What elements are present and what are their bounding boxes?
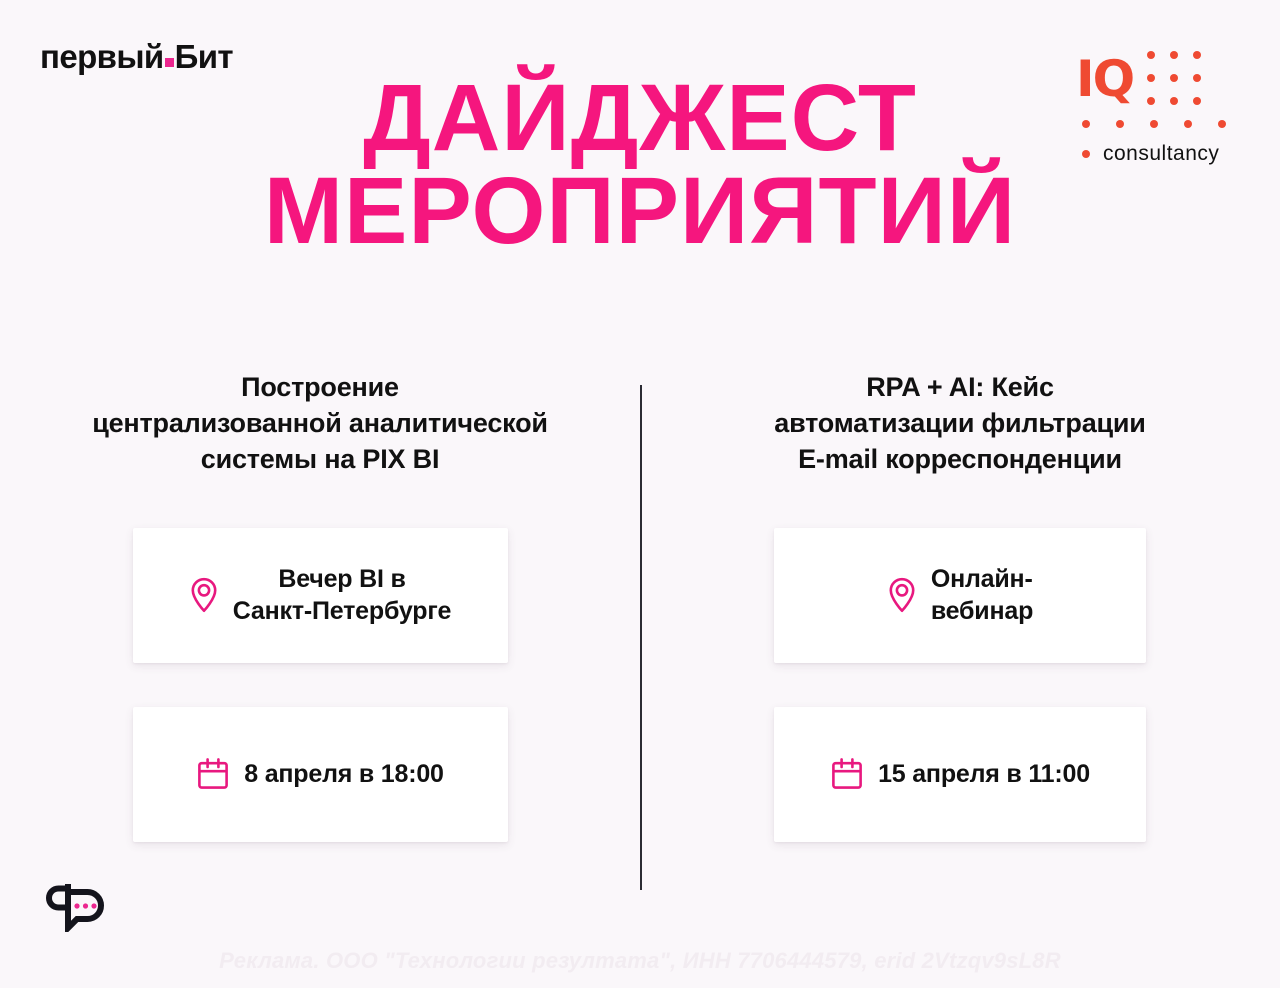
event-1-title-line-2: централизованной аналитической	[92, 408, 548, 438]
perviy-bit-logo-dot	[165, 58, 174, 67]
speech-bubble-logo	[42, 882, 116, 932]
event-2-cards: Онлайн- вебинар 15 апреля	[680, 528, 1240, 842]
event-2-location-line-2: вебинар	[931, 597, 1033, 625]
event-2-title-line-2: автоматизации фильтрации	[774, 408, 1145, 438]
event-2-title: RPA + AI: Кейс автоматизации фильтрации …	[680, 360, 1240, 478]
event-2-title-line-1: RPA + AI: Кейс	[866, 372, 1054, 402]
perviy-bit-logo-text-left: первый	[40, 38, 164, 76]
event-2-date-card[interactable]: 15 апреля в 11:00	[774, 707, 1146, 842]
event-2-title-line-3: E-mail корреспонденции	[798, 444, 1122, 474]
event-column-2: RPA + AI: Кейс автоматизации фильтрации …	[640, 360, 1280, 900]
event-1-title-line-3: системы на PIX BI	[201, 444, 440, 474]
event-column-1: Построение централизованной аналитическо…	[0, 360, 640, 900]
event-2-location-text: Онлайн- вебинар	[931, 563, 1033, 627]
event-1-date-card[interactable]: 8 апреля в 18:00	[133, 707, 508, 842]
event-1-cards: Вечер BI в Санкт-Петербурге	[40, 528, 600, 842]
calendar-icon	[196, 757, 230, 791]
perviy-bit-logo: первый Бит	[40, 38, 233, 76]
event-2-location-line-1: Онлайн-	[931, 565, 1033, 593]
map-pin-icon	[189, 576, 219, 614]
event-2-location-card[interactable]: Онлайн- вебинар	[774, 528, 1146, 663]
page-title-line-1: ДАЙДЖЕСТ	[0, 72, 1280, 165]
event-1-location-line-1: Вечер BI в	[278, 565, 405, 593]
event-1-title: Построение централизованной аналитическо…	[40, 360, 600, 478]
advertising-disclaimer: Реклама. ООО "Технологии резултата", ИНН…	[0, 948, 1280, 974]
calendar-icon	[830, 757, 864, 791]
event-1-location-text: Вечер BI в Санкт-Петербурге	[233, 563, 451, 627]
event-2-date-text: 15 апреля в 11:00	[878, 758, 1090, 790]
event-1-location-line-2: Санкт-Петербурге	[233, 597, 451, 625]
events-section: Построение централизованной аналитическо…	[0, 360, 1280, 900]
event-1-location-card[interactable]: Вечер BI в Санкт-Петербурге	[133, 528, 508, 663]
perviy-bit-logo-text-right: Бит	[175, 38, 233, 76]
page-title: ДАЙДЖЕСТ МЕРОПРИЯТИЙ	[0, 72, 1280, 258]
event-1-title-line-1: Построение	[241, 372, 399, 402]
event-1-date-text: 8 апреля в 18:00	[244, 758, 444, 790]
page-title-line-2: МЕРОПРИЯТИЙ	[0, 165, 1280, 258]
map-pin-icon	[887, 576, 917, 614]
